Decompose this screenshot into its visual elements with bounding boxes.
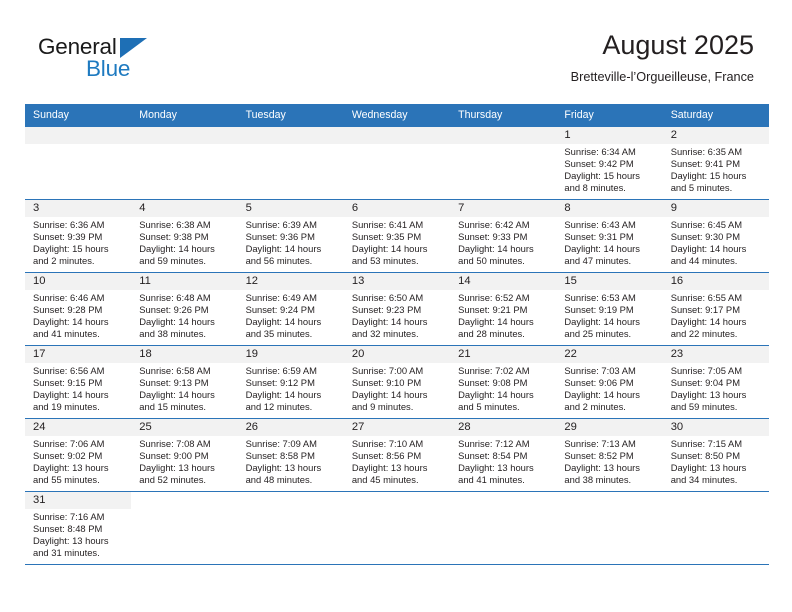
day-details: Sunrise: 7:10 AMSunset: 8:56 PMDaylight:… [344, 436, 450, 486]
sunrise-text: Sunrise: 6:39 AM [246, 219, 340, 231]
calendar-day-cell[interactable]: 9Sunrise: 6:45 AMSunset: 9:30 PMDaylight… [663, 200, 769, 273]
page-header: General Blue August 2025 Bretteville-l’O… [0, 0, 792, 100]
day-cell-inner: 10Sunrise: 6:46 AMSunset: 9:28 PMDayligh… [25, 273, 131, 345]
day-cell-inner: 24Sunrise: 7:06 AMSunset: 9:02 PMDayligh… [25, 419, 131, 491]
day-cell-inner: 13Sunrise: 6:50 AMSunset: 9:23 PMDayligh… [344, 273, 450, 345]
daylight-text: Daylight: 14 hours [33, 316, 127, 328]
day-cell-inner: 21Sunrise: 7:02 AMSunset: 9:08 PMDayligh… [450, 346, 556, 418]
calendar-week-row: 17Sunrise: 6:56 AMSunset: 9:15 PMDayligh… [25, 346, 769, 419]
day-details: Sunrise: 6:34 AMSunset: 9:42 PMDaylight:… [556, 144, 662, 194]
sunrise-text: Sunrise: 6:50 AM [352, 292, 446, 304]
day-number [450, 127, 556, 144]
daylight-text-cont: and 8 minutes. [564, 182, 658, 194]
daylight-text-cont: and 41 minutes. [33, 328, 127, 340]
calendar-day-cell[interactable]: 25Sunrise: 7:08 AMSunset: 9:00 PMDayligh… [131, 419, 237, 492]
sunset-text: Sunset: 9:23 PM [352, 304, 446, 316]
sunset-text: Sunset: 8:54 PM [458, 450, 552, 462]
daylight-text-cont: and 44 minutes. [671, 255, 765, 267]
weekday-header-sunday: Sunday [25, 104, 131, 127]
calendar-week-row: 1Sunrise: 6:34 AMSunset: 9:42 PMDaylight… [25, 127, 769, 200]
calendar-day-cell[interactable]: 13Sunrise: 6:50 AMSunset: 9:23 PMDayligh… [344, 273, 450, 346]
weekday-header-thursday: Thursday [450, 104, 556, 127]
day-number: 8 [556, 200, 662, 217]
day-details [131, 144, 237, 146]
calendar-day-cell[interactable]: 7Sunrise: 6:42 AMSunset: 9:33 PMDaylight… [450, 200, 556, 273]
day-details: Sunrise: 6:50 AMSunset: 9:23 PMDaylight:… [344, 290, 450, 340]
page-title: August 2025 [571, 30, 754, 61]
calendar-day-cell[interactable]: 6Sunrise: 6:41 AMSunset: 9:35 PMDaylight… [344, 200, 450, 273]
daylight-text-cont: and 28 minutes. [458, 328, 552, 340]
daylight-text: Daylight: 14 hours [671, 316, 765, 328]
daylight-text: Daylight: 14 hours [671, 243, 765, 255]
day-cell-inner: 25Sunrise: 7:08 AMSunset: 9:00 PMDayligh… [131, 419, 237, 491]
calendar-cell-empty [556, 492, 662, 565]
day-cell-inner [238, 127, 344, 199]
sunrise-text: Sunrise: 7:13 AM [564, 438, 658, 450]
sunset-text: Sunset: 9:35 PM [352, 231, 446, 243]
day-number: 12 [238, 273, 344, 290]
day-details: Sunrise: 6:45 AMSunset: 9:30 PMDaylight:… [663, 217, 769, 267]
logo-text-blue: Blue [86, 58, 130, 81]
daylight-text: Daylight: 13 hours [671, 462, 765, 474]
day-cell-inner [450, 127, 556, 199]
calendar-page: General Blue August 2025 Bretteville-l’O… [0, 0, 792, 612]
calendar-week-row: 10Sunrise: 6:46 AMSunset: 9:28 PMDayligh… [25, 273, 769, 346]
daylight-text-cont: and 12 minutes. [246, 401, 340, 413]
day-details: Sunrise: 6:53 AMSunset: 9:19 PMDaylight:… [556, 290, 662, 340]
sunset-text: Sunset: 9:33 PM [458, 231, 552, 243]
calendar-day-cell[interactable]: 3Sunrise: 6:36 AMSunset: 9:39 PMDaylight… [25, 200, 131, 273]
day-number: 23 [663, 346, 769, 363]
day-details: Sunrise: 6:48 AMSunset: 9:26 PMDaylight:… [131, 290, 237, 340]
sunrise-text: Sunrise: 6:58 AM [139, 365, 233, 377]
sunrise-text: Sunrise: 6:46 AM [33, 292, 127, 304]
day-number [450, 492, 556, 509]
sunset-text: Sunset: 8:50 PM [671, 450, 765, 462]
day-number: 16 [663, 273, 769, 290]
day-number: 19 [238, 346, 344, 363]
day-cell-inner: 17Sunrise: 6:56 AMSunset: 9:15 PMDayligh… [25, 346, 131, 418]
sunrise-text: Sunrise: 7:12 AM [458, 438, 552, 450]
sunrise-text: Sunrise: 6:56 AM [33, 365, 127, 377]
calendar-day-cell[interactable]: 28Sunrise: 7:12 AMSunset: 8:54 PMDayligh… [450, 419, 556, 492]
day-details: Sunrise: 7:15 AMSunset: 8:50 PMDaylight:… [663, 436, 769, 486]
calendar-week-row: 24Sunrise: 7:06 AMSunset: 9:02 PMDayligh… [25, 419, 769, 492]
day-number: 27 [344, 419, 450, 436]
calendar-day-cell[interactable]: 26Sunrise: 7:09 AMSunset: 8:58 PMDayligh… [238, 419, 344, 492]
day-details: Sunrise: 7:06 AMSunset: 9:02 PMDaylight:… [25, 436, 131, 486]
daylight-text-cont: and 48 minutes. [246, 474, 340, 486]
day-details: Sunrise: 6:58 AMSunset: 9:13 PMDaylight:… [131, 363, 237, 413]
daylight-text: Daylight: 13 hours [33, 535, 127, 547]
daylight-text-cont: and 59 minutes. [139, 255, 233, 267]
page-subtitle: Bretteville-l’Orgueilleuse, France [571, 70, 754, 84]
sunrise-text: Sunrise: 7:09 AM [246, 438, 340, 450]
day-cell-inner: 26Sunrise: 7:09 AMSunset: 8:58 PMDayligh… [238, 419, 344, 491]
day-details: Sunrise: 7:12 AMSunset: 8:54 PMDaylight:… [450, 436, 556, 486]
day-details [25, 144, 131, 146]
calendar-week-row: 3Sunrise: 6:36 AMSunset: 9:39 PMDaylight… [25, 200, 769, 273]
sunset-text: Sunset: 8:58 PM [246, 450, 340, 462]
calendar-day-cell[interactable]: 19Sunrise: 6:59 AMSunset: 9:12 PMDayligh… [238, 346, 344, 419]
day-number: 6 [344, 200, 450, 217]
daylight-text-cont: and 59 minutes. [671, 401, 765, 413]
sunrise-text: Sunrise: 7:15 AM [671, 438, 765, 450]
day-cell-inner: 27Sunrise: 7:10 AMSunset: 8:56 PMDayligh… [344, 419, 450, 491]
day-number [238, 492, 344, 509]
sunrise-text: Sunrise: 7:08 AM [139, 438, 233, 450]
calendar-day-cell[interactable]: 5Sunrise: 6:39 AMSunset: 9:36 PMDaylight… [238, 200, 344, 273]
daylight-text: Daylight: 14 hours [458, 316, 552, 328]
calendar-grid: Sunday Monday Tuesday Wednesday Thursday… [25, 104, 769, 564]
calendar-day-cell[interactable]: 18Sunrise: 6:58 AMSunset: 9:13 PMDayligh… [131, 346, 237, 419]
daylight-text-cont: and 15 minutes. [139, 401, 233, 413]
day-cell-inner: 31Sunrise: 7:16 AMSunset: 8:48 PMDayligh… [25, 492, 131, 564]
day-number [25, 127, 131, 144]
sunset-text: Sunset: 9:12 PM [246, 377, 340, 389]
sunset-text: Sunset: 8:48 PM [33, 523, 127, 535]
day-number: 31 [25, 492, 131, 509]
day-cell-inner [131, 492, 237, 564]
day-details [238, 144, 344, 146]
day-cell-inner [344, 492, 450, 564]
day-cell-inner [663, 492, 769, 564]
sunset-text: Sunset: 9:39 PM [33, 231, 127, 243]
daylight-text: Daylight: 14 hours [246, 243, 340, 255]
calendar-week-row: 31Sunrise: 7:16 AMSunset: 8:48 PMDayligh… [25, 492, 769, 565]
calendar-day-cell[interactable]: 27Sunrise: 7:10 AMSunset: 8:56 PMDayligh… [344, 419, 450, 492]
day-cell-inner [344, 127, 450, 199]
sunset-text: Sunset: 9:42 PM [564, 158, 658, 170]
weekday-header-saturday: Saturday [663, 104, 769, 127]
sunrise-text: Sunrise: 6:59 AM [246, 365, 340, 377]
day-cell-inner: 22Sunrise: 7:03 AMSunset: 9:06 PMDayligh… [556, 346, 662, 418]
sunset-text: Sunset: 9:41 PM [671, 158, 765, 170]
calendar-day-cell[interactable]: 17Sunrise: 6:56 AMSunset: 9:15 PMDayligh… [25, 346, 131, 419]
calendar-cell-empty [25, 127, 131, 200]
daylight-text-cont: and 41 minutes. [458, 474, 552, 486]
day-number: 10 [25, 273, 131, 290]
day-cell-inner: 9Sunrise: 6:45 AMSunset: 9:30 PMDaylight… [663, 200, 769, 272]
daylight-text-cont: and 53 minutes. [352, 255, 446, 267]
daylight-text-cont: and 47 minutes. [564, 255, 658, 267]
daylight-text-cont: and 32 minutes. [352, 328, 446, 340]
day-details: Sunrise: 6:55 AMSunset: 9:17 PMDaylight:… [663, 290, 769, 340]
day-cell-inner: 12Sunrise: 6:49 AMSunset: 9:24 PMDayligh… [238, 273, 344, 345]
sunrise-text: Sunrise: 7:00 AM [352, 365, 446, 377]
day-details: Sunrise: 7:16 AMSunset: 8:48 PMDaylight:… [25, 509, 131, 559]
sunrise-text: Sunrise: 6:55 AM [671, 292, 765, 304]
day-number [663, 492, 769, 509]
day-details: Sunrise: 6:39 AMSunset: 9:36 PMDaylight:… [238, 217, 344, 267]
sunrise-text: Sunrise: 6:43 AM [564, 219, 658, 231]
sunrise-text: Sunrise: 6:53 AM [564, 292, 658, 304]
calendar-day-cell[interactable]: 14Sunrise: 6:52 AMSunset: 9:21 PMDayligh… [450, 273, 556, 346]
day-details [556, 509, 662, 511]
day-details [450, 144, 556, 146]
calendar-day-cell[interactable]: 21Sunrise: 7:02 AMSunset: 9:08 PMDayligh… [450, 346, 556, 419]
daylight-text: Daylight: 14 hours [33, 389, 127, 401]
day-number [344, 492, 450, 509]
sunrise-text: Sunrise: 7:10 AM [352, 438, 446, 450]
daylight-text-cont: and 5 minutes. [671, 182, 765, 194]
weekday-header-row: Sunday Monday Tuesday Wednesday Thursday… [25, 104, 769, 127]
day-cell-inner [450, 492, 556, 564]
daylight-text: Daylight: 14 hours [458, 243, 552, 255]
calendar-day-cell[interactable]: 16Sunrise: 6:55 AMSunset: 9:17 PMDayligh… [663, 273, 769, 346]
day-number: 3 [25, 200, 131, 217]
day-number [238, 127, 344, 144]
calendar-cell-empty [238, 492, 344, 565]
day-cell-inner: 7Sunrise: 6:42 AMSunset: 9:33 PMDaylight… [450, 200, 556, 272]
calendar-day-cell[interactable]: 31Sunrise: 7:16 AMSunset: 8:48 PMDayligh… [25, 492, 131, 565]
sunset-text: Sunset: 9:06 PM [564, 377, 658, 389]
day-cell-inner [238, 492, 344, 564]
day-details: Sunrise: 6:36 AMSunset: 9:39 PMDaylight:… [25, 217, 131, 267]
day-cell-inner: 20Sunrise: 7:00 AMSunset: 9:10 PMDayligh… [344, 346, 450, 418]
daylight-text: Daylight: 14 hours [139, 389, 233, 401]
day-cell-inner: 18Sunrise: 6:58 AMSunset: 9:13 PMDayligh… [131, 346, 237, 418]
daylight-text: Daylight: 14 hours [564, 243, 658, 255]
day-number: 9 [663, 200, 769, 217]
daylight-text: Daylight: 13 hours [352, 462, 446, 474]
calendar-day-cell[interactable]: 15Sunrise: 6:53 AMSunset: 9:19 PMDayligh… [556, 273, 662, 346]
day-details [344, 509, 450, 511]
sunset-text: Sunset: 9:02 PM [33, 450, 127, 462]
day-details [663, 509, 769, 511]
daylight-text-cont: and 45 minutes. [352, 474, 446, 486]
sunset-text: Sunset: 9:00 PM [139, 450, 233, 462]
day-cell-inner: 16Sunrise: 6:55 AMSunset: 9:17 PMDayligh… [663, 273, 769, 345]
day-details: Sunrise: 6:43 AMSunset: 9:31 PMDaylight:… [556, 217, 662, 267]
sunset-text: Sunset: 9:08 PM [458, 377, 552, 389]
daylight-text-cont: and 9 minutes. [352, 401, 446, 413]
day-number: 4 [131, 200, 237, 217]
day-details: Sunrise: 6:38 AMSunset: 9:38 PMDaylight:… [131, 217, 237, 267]
sunrise-text: Sunrise: 6:49 AM [246, 292, 340, 304]
daylight-text-cont: and 56 minutes. [246, 255, 340, 267]
calendar-day-cell[interactable]: 29Sunrise: 7:13 AMSunset: 8:52 PMDayligh… [556, 419, 662, 492]
sunrise-text: Sunrise: 7:16 AM [33, 511, 127, 523]
daylight-text-cont: and 2 minutes. [33, 255, 127, 267]
day-details: Sunrise: 6:59 AMSunset: 9:12 PMDaylight:… [238, 363, 344, 413]
daylight-text-cont: and 38 minutes. [139, 328, 233, 340]
day-cell-inner: 1Sunrise: 6:34 AMSunset: 9:42 PMDaylight… [556, 127, 662, 199]
sunset-text: Sunset: 8:56 PM [352, 450, 446, 462]
sunset-text: Sunset: 9:15 PM [33, 377, 127, 389]
day-cell-inner: 30Sunrise: 7:15 AMSunset: 8:50 PMDayligh… [663, 419, 769, 491]
sunrise-text: Sunrise: 6:41 AM [352, 219, 446, 231]
sunrise-text: Sunrise: 6:48 AM [139, 292, 233, 304]
calendar-day-cell[interactable]: 22Sunrise: 7:03 AMSunset: 9:06 PMDayligh… [556, 346, 662, 419]
sunset-text: Sunset: 9:10 PM [352, 377, 446, 389]
day-number: 7 [450, 200, 556, 217]
day-number: 14 [450, 273, 556, 290]
day-cell-inner: 15Sunrise: 6:53 AMSunset: 9:19 PMDayligh… [556, 273, 662, 345]
daylight-text: Daylight: 13 hours [564, 462, 658, 474]
day-details: Sunrise: 6:49 AMSunset: 9:24 PMDaylight:… [238, 290, 344, 340]
general-blue-logo[interactable]: General Blue [38, 36, 218, 88]
calendar-day-cell[interactable]: 24Sunrise: 7:06 AMSunset: 9:02 PMDayligh… [25, 419, 131, 492]
sunset-text: Sunset: 9:30 PM [671, 231, 765, 243]
day-cell-inner [25, 127, 131, 199]
day-cell-inner: 29Sunrise: 7:13 AMSunset: 8:52 PMDayligh… [556, 419, 662, 491]
calendar-day-cell[interactable]: 8Sunrise: 6:43 AMSunset: 9:31 PMDaylight… [556, 200, 662, 273]
calendar-day-cell[interactable]: 23Sunrise: 7:05 AMSunset: 9:04 PMDayligh… [663, 346, 769, 419]
day-details: Sunrise: 6:41 AMSunset: 9:35 PMDaylight:… [344, 217, 450, 267]
day-cell-inner: 3Sunrise: 6:36 AMSunset: 9:39 PMDaylight… [25, 200, 131, 272]
day-cell-inner [131, 127, 237, 199]
title-block: August 2025 Bretteville-l’Orgueilleuse, … [571, 30, 754, 84]
day-details: Sunrise: 6:42 AMSunset: 9:33 PMDaylight:… [450, 217, 556, 267]
day-details: Sunrise: 7:00 AMSunset: 9:10 PMDaylight:… [344, 363, 450, 413]
day-cell-inner: 11Sunrise: 6:48 AMSunset: 9:26 PMDayligh… [131, 273, 237, 345]
calendar-day-cell[interactable]: 30Sunrise: 7:15 AMSunset: 8:50 PMDayligh… [663, 419, 769, 492]
weekday-header-monday: Monday [131, 104, 237, 127]
sunrise-text: Sunrise: 6:35 AM [671, 146, 765, 158]
day-number: 15 [556, 273, 662, 290]
day-details: Sunrise: 7:05 AMSunset: 9:04 PMDaylight:… [663, 363, 769, 413]
day-cell-inner: 4Sunrise: 6:38 AMSunset: 9:38 PMDaylight… [131, 200, 237, 272]
daylight-text: Daylight: 14 hours [458, 389, 552, 401]
calendar-cell-empty [131, 492, 237, 565]
sunset-text: Sunset: 9:36 PM [246, 231, 340, 243]
sunrise-text: Sunrise: 6:36 AM [33, 219, 127, 231]
calendar-day-cell[interactable]: 10Sunrise: 6:46 AMSunset: 9:28 PMDayligh… [25, 273, 131, 346]
sunset-text: Sunset: 9:26 PM [139, 304, 233, 316]
day-number: 22 [556, 346, 662, 363]
daylight-text-cont: and 2 minutes. [564, 401, 658, 413]
calendar-bottom-border [25, 564, 769, 565]
daylight-text-cont: and 50 minutes. [458, 255, 552, 267]
calendar-day-cell[interactable]: 4Sunrise: 6:38 AMSunset: 9:38 PMDaylight… [131, 200, 237, 273]
calendar-body: 1Sunrise: 6:34 AMSunset: 9:42 PMDaylight… [25, 127, 769, 565]
logo-triangle-icon [120, 38, 147, 58]
sunrise-text: Sunrise: 7:06 AM [33, 438, 127, 450]
sunrise-text: Sunrise: 6:42 AM [458, 219, 552, 231]
day-number: 11 [131, 273, 237, 290]
day-details: Sunrise: 7:13 AMSunset: 8:52 PMDaylight:… [556, 436, 662, 486]
daylight-text-cont: and 38 minutes. [564, 474, 658, 486]
calendar-day-cell[interactable]: 12Sunrise: 6:49 AMSunset: 9:24 PMDayligh… [238, 273, 344, 346]
day-cell-inner: 14Sunrise: 6:52 AMSunset: 9:21 PMDayligh… [450, 273, 556, 345]
day-details: Sunrise: 7:09 AMSunset: 8:58 PMDaylight:… [238, 436, 344, 486]
sunrise-text: Sunrise: 6:38 AM [139, 219, 233, 231]
weekday-header-wednesday: Wednesday [344, 104, 450, 127]
daylight-text: Daylight: 14 hours [564, 316, 658, 328]
day-cell-inner: 19Sunrise: 6:59 AMSunset: 9:12 PMDayligh… [238, 346, 344, 418]
day-cell-inner: 28Sunrise: 7:12 AMSunset: 8:54 PMDayligh… [450, 419, 556, 491]
daylight-text-cont: and 55 minutes. [33, 474, 127, 486]
daylight-text: Daylight: 14 hours [139, 243, 233, 255]
sunrise-text: Sunrise: 7:03 AM [564, 365, 658, 377]
daylight-text: Daylight: 15 hours [33, 243, 127, 255]
day-number: 21 [450, 346, 556, 363]
daylight-text: Daylight: 13 hours [671, 389, 765, 401]
sunrise-text: Sunrise: 6:45 AM [671, 219, 765, 231]
day-details [344, 144, 450, 146]
calendar-day-cell[interactable]: 20Sunrise: 7:00 AMSunset: 9:10 PMDayligh… [344, 346, 450, 419]
day-details [238, 509, 344, 511]
day-number [131, 492, 237, 509]
sunset-text: Sunset: 9:38 PM [139, 231, 233, 243]
sunset-text: Sunset: 9:04 PM [671, 377, 765, 389]
daylight-text: Daylight: 15 hours [564, 170, 658, 182]
day-cell-inner [556, 492, 662, 564]
day-details: Sunrise: 6:46 AMSunset: 9:28 PMDaylight:… [25, 290, 131, 340]
calendar-day-cell[interactable]: 11Sunrise: 6:48 AMSunset: 9:26 PMDayligh… [131, 273, 237, 346]
daylight-text: Daylight: 13 hours [139, 462, 233, 474]
calendar-cell-empty [663, 492, 769, 565]
daylight-text: Daylight: 14 hours [139, 316, 233, 328]
sunset-text: Sunset: 9:13 PM [139, 377, 233, 389]
day-number: 25 [131, 419, 237, 436]
day-number: 5 [238, 200, 344, 217]
day-number [131, 127, 237, 144]
daylight-text: Daylight: 13 hours [458, 462, 552, 474]
day-details: Sunrise: 6:52 AMSunset: 9:21 PMDaylight:… [450, 290, 556, 340]
day-number: 28 [450, 419, 556, 436]
daylight-text-cont: and 25 minutes. [564, 328, 658, 340]
day-number: 26 [238, 419, 344, 436]
day-cell-inner: 5Sunrise: 6:39 AMSunset: 9:36 PMDaylight… [238, 200, 344, 272]
day-details: Sunrise: 7:02 AMSunset: 9:08 PMDaylight:… [450, 363, 556, 413]
calendar-cell-empty [344, 492, 450, 565]
day-number: 17 [25, 346, 131, 363]
calendar-cell-empty [450, 492, 556, 565]
day-number: 30 [663, 419, 769, 436]
sunrise-text: Sunrise: 7:02 AM [458, 365, 552, 377]
daylight-text-cont: and 22 minutes. [671, 328, 765, 340]
sunrise-text: Sunrise: 6:52 AM [458, 292, 552, 304]
daylight-text: Daylight: 14 hours [246, 316, 340, 328]
daylight-text: Daylight: 14 hours [352, 389, 446, 401]
day-number: 1 [556, 127, 662, 144]
sunset-text: Sunset: 9:21 PM [458, 304, 552, 316]
daylight-text: Daylight: 13 hours [33, 462, 127, 474]
daylight-text-cont: and 35 minutes. [246, 328, 340, 340]
sunrise-text: Sunrise: 7:05 AM [671, 365, 765, 377]
daylight-text-cont: and 52 minutes. [139, 474, 233, 486]
day-details: Sunrise: 6:35 AMSunset: 9:41 PMDaylight:… [663, 144, 769, 194]
daylight-text: Daylight: 14 hours [246, 389, 340, 401]
sunset-text: Sunset: 9:31 PM [564, 231, 658, 243]
sunset-text: Sunset: 9:19 PM [564, 304, 658, 316]
sunrise-text: Sunrise: 6:34 AM [564, 146, 658, 158]
weekday-header-friday: Friday [556, 104, 662, 127]
daylight-text-cont: and 31 minutes. [33, 547, 127, 559]
day-cell-inner: 23Sunrise: 7:05 AMSunset: 9:04 PMDayligh… [663, 346, 769, 418]
daylight-text: Daylight: 14 hours [352, 316, 446, 328]
day-cell-inner: 6Sunrise: 6:41 AMSunset: 9:35 PMDaylight… [344, 200, 450, 272]
sunset-text: Sunset: 9:17 PM [671, 304, 765, 316]
daylight-text-cont: and 34 minutes. [671, 474, 765, 486]
day-number: 2 [663, 127, 769, 144]
day-number [344, 127, 450, 144]
calendar-cell-empty [238, 127, 344, 200]
day-number: 29 [556, 419, 662, 436]
day-details [131, 509, 237, 511]
weekday-header-tuesday: Tuesday [238, 104, 344, 127]
day-number: 24 [25, 419, 131, 436]
sunset-text: Sunset: 8:52 PM [564, 450, 658, 462]
sunset-text: Sunset: 9:28 PM [33, 304, 127, 316]
day-details: Sunrise: 7:08 AMSunset: 9:00 PMDaylight:… [131, 436, 237, 486]
daylight-text: Daylight: 15 hours [671, 170, 765, 182]
daylight-text: Daylight: 13 hours [246, 462, 340, 474]
calendar-day-cell[interactable]: 1Sunrise: 6:34 AMSunset: 9:42 PMDaylight… [556, 127, 662, 200]
calendar-day-cell[interactable]: 2Sunrise: 6:35 AMSunset: 9:41 PMDaylight… [663, 127, 769, 200]
